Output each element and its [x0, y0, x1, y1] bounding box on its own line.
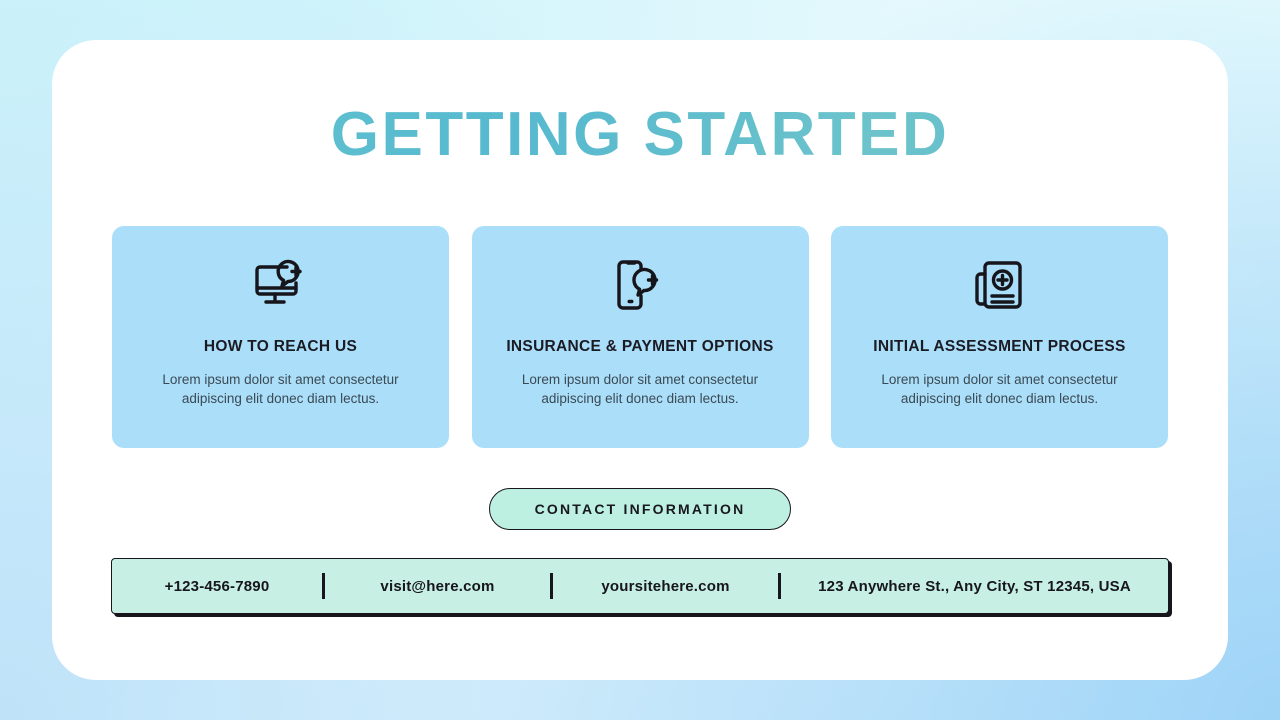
- footer-phone[interactable]: +123-456-7890: [112, 578, 322, 595]
- info-cards-row: HOW TO REACH US Lorem ipsum dolor sit am…: [112, 226, 1168, 448]
- info-card-body: Lorem ipsum dolor sit amet consectetur a…: [134, 370, 427, 408]
- mobile-phone-plus-icon: [494, 254, 787, 316]
- info-card-title: INITIAL ASSESSMENT PROCESS: [853, 338, 1146, 356]
- footer-website[interactable]: yoursitehere.com: [553, 578, 778, 595]
- slide-panel: GETTING STARTED HOW TO REACH US Lorem ip…: [52, 40, 1228, 680]
- contact-details-bar: +123-456-7890 visit@here.com yoursiteher…: [111, 558, 1169, 614]
- info-card-insurance-payment-options[interactable]: INSURANCE & PAYMENT OPTIONS Lorem ipsum …: [472, 226, 809, 448]
- footer-address: 123 Anywhere St., Any City, ST 12345, US…: [781, 578, 1168, 595]
- contact-button-row: CONTACT INFORMATION: [52, 488, 1228, 530]
- footer-email[interactable]: visit@here.com: [325, 578, 550, 595]
- info-card-how-to-reach-us[interactable]: HOW TO REACH US Lorem ipsum dolor sit am…: [112, 226, 449, 448]
- page-title: GETTING STARTED: [52, 104, 1228, 166]
- info-card-title: INSURANCE & PAYMENT OPTIONS: [494, 338, 787, 356]
- medical-document-plus-icon: [853, 254, 1146, 316]
- contact-information-button[interactable]: CONTACT INFORMATION: [489, 488, 791, 530]
- info-card-initial-assessment-process[interactable]: INITIAL ASSESSMENT PROCESS Lorem ipsum d…: [831, 226, 1168, 448]
- desktop-monitor-plus-icon: [134, 254, 427, 316]
- info-card-body: Lorem ipsum dolor sit amet consectetur a…: [853, 370, 1146, 408]
- contact-details-bar-wrap: +123-456-7890 visit@here.com yoursiteher…: [111, 558, 1169, 614]
- info-card-title: HOW TO REACH US: [134, 338, 427, 356]
- info-card-body: Lorem ipsum dolor sit amet consectetur a…: [494, 370, 787, 408]
